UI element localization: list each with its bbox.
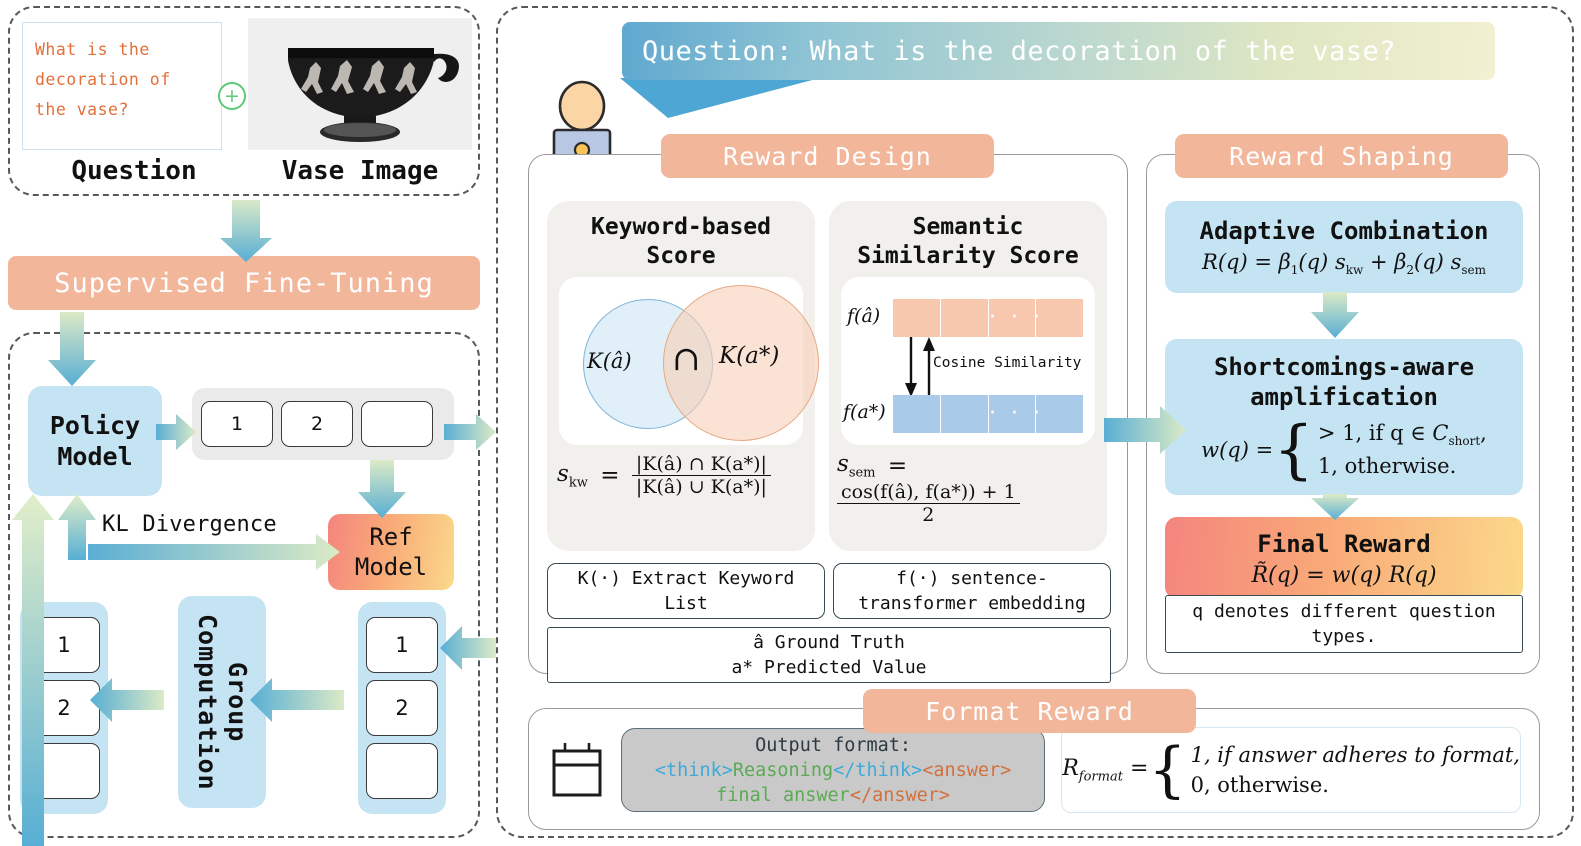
legend-answer-symbols: â Ground Truth a* Predicted Value [547, 627, 1111, 683]
adaptive-beta2-sub: 2 [1406, 264, 1414, 278]
speech-bubble-tail [620, 78, 820, 118]
group-computation-label: Group Computation [192, 596, 252, 808]
keyword-card-title: Keyword-based Score [547, 213, 815, 271]
vase-image-label: Vase Image [248, 156, 472, 186]
vase-illustration [248, 18, 472, 150]
answer-close-tag: </answer> [850, 785, 950, 806]
legend-q-line1: q denotes different question [1192, 599, 1495, 624]
vector-label-top: f(â) [847, 305, 880, 327]
vector-dots-bottom: · · · [989, 395, 1044, 433]
question-input[interactable]: What is the decoration of the vase? [22, 22, 222, 150]
shortcomings-title: Shortcomings-aware amplification [1214, 352, 1474, 412]
format-reward-header: Format Reward [863, 689, 1196, 733]
policy-model-line1: Policy [50, 410, 140, 441]
shortcomings-title-line2: amplification [1214, 382, 1474, 412]
policy-model-block: Policy Model [28, 386, 162, 496]
output-format-card: Output format: <think>Reasoning</think><… [621, 728, 1045, 812]
final-reward-eq-text: R̃(q) = w(q) R(q) [1251, 563, 1436, 588]
question-speech-bubble: Question: What is the decoration of the … [622, 22, 1495, 80]
adaptive-ssem-sub: sem [1461, 264, 1486, 278]
output-format-code-line1: <think>Reasoning</think><answer> [655, 758, 1011, 783]
format-reward-body: Output format: <think>Reasoning</think><… [549, 727, 1521, 813]
semantic-card-title: Semantic Similarity Score [829, 213, 1107, 271]
shortcomings-case2: 1, otherwise. [1318, 451, 1487, 481]
ssem-fraction: cos(f(â), f(a*)) + 1 2 [837, 481, 1020, 526]
reward-framework-panel: Question: What is the decoration of the … [496, 6, 1574, 838]
vector-segment [893, 395, 941, 433]
shortcomings-case1: > 1, if q ∈ Cshort, [1318, 418, 1487, 451]
vector-segment [941, 395, 989, 433]
ssem-denominator: 2 [837, 504, 1020, 526]
adaptive-combination-formula: R(q) = β1(q) skw + β2(q) ssem [1202, 250, 1486, 277]
vector-label-bottom: f(a*) [843, 401, 886, 423]
semantic-title-line1: Semantic [829, 213, 1107, 242]
supervised-fine-tuning-block: Supervised Fine-Tuning [8, 256, 480, 310]
legend-f-line1: f(·) sentence- [858, 566, 1086, 591]
final-reward-title: Final Reward [1257, 529, 1430, 559]
question-input-text: What is the decoration of the vase? [35, 40, 171, 119]
semantic-score-formula: ssem = cos(f(â), f(a*)) + 1 2 [837, 451, 1099, 526]
final-reward-formula: R̃(q) = w(q) R(q) [1251, 563, 1436, 588]
adaptive-skw-sub: kw [1346, 264, 1364, 278]
venn-label-left: K(â) [587, 349, 632, 373]
keyword-score-formula: skw = |K(â) ∩ K(a*)| |K(â) ∪ K(a*)| [557, 453, 805, 498]
embedding-vectors: f(â) · · · Cosine Similarity [841, 277, 1095, 445]
legend-a-line2: a* Predicted Value [731, 655, 926, 680]
rformat-case2: 0, otherwise. [1191, 770, 1520, 800]
stack-cell: 2 [28, 680, 100, 736]
adaptive-beta1: β [1279, 250, 1291, 274]
vector-segment [893, 299, 941, 337]
vase-image [248, 18, 472, 150]
brace-icon: { [1273, 425, 1314, 475]
question-label: Question [34, 156, 234, 186]
output-format-title: Output format: [755, 733, 911, 758]
rollout-cell: 1 [201, 401, 273, 447]
legend-q-line2: types. [1192, 624, 1495, 649]
rformat-case1: 1, if answer adheres to format, [1191, 740, 1520, 770]
adaptive-lhs: R(q) = [1202, 250, 1272, 274]
input-panel: What is the decoration of the vase? + [8, 6, 480, 196]
legend-k-line2: List [578, 591, 795, 616]
legend-embedding-fn: f(·) sentence- transformer embedding [833, 563, 1111, 619]
adaptive-combination-title: Adaptive Combination [1200, 216, 1489, 246]
venn-label-right: K(a*) [719, 343, 779, 369]
shortcomings-amplification-block: Shortcomings-aware amplification w(q) = … [1165, 339, 1523, 495]
kl-divergence-label: KL Divergence [102, 512, 277, 537]
keyword-title-line1: Keyword-based [547, 213, 815, 242]
policy-model-line2: Model [57, 441, 132, 472]
adaptive-combination-block: Adaptive Combination R(q) = β1(q) skw + … [1165, 201, 1523, 293]
stack-cell [28, 743, 100, 799]
skw-denominator: |K(â) ∪ K(a*)| [632, 476, 771, 498]
reward-stack-left: 1 2 [20, 602, 108, 814]
ssem-numerator: cos(f(â), f(a*)) + 1 [837, 481, 1020, 504]
think-close-tag: </think> [833, 760, 922, 781]
adaptive-ssem: s [1451, 250, 1462, 274]
skw-equals: = [593, 463, 627, 489]
ref-model-line2: Model [355, 552, 427, 582]
calendar-icon [549, 741, 605, 799]
legend-f-line2: transformer embedding [858, 591, 1086, 616]
group-computation-block: Group Computation [178, 596, 266, 808]
final-reward-block: Final Reward R̃(q) = w(q) R(q) [1165, 517, 1523, 599]
arrow-input-to-sft [220, 200, 272, 262]
reward-design-panel: Keyword-based Score K(â) ∩ K(a*) skw = |… [528, 154, 1128, 674]
venn-diagram: K(â) ∩ K(a*) [559, 277, 803, 445]
adaptive-skw: s [1335, 250, 1346, 274]
reward-design-header: Reward Design [661, 134, 994, 178]
skw-numerator: |K(â) ∩ K(a*)| [632, 453, 771, 476]
adaptive-beta1-arg: (q) [1298, 250, 1328, 274]
legend-question-types: q denotes different question types. [1165, 595, 1523, 653]
legend-k-line1: K(·) Extract Keyword [578, 566, 795, 591]
rformat-lhs: Rformat = [1062, 756, 1148, 784]
reward-stack-right: 1 2 [358, 602, 446, 814]
ref-model-line1: Ref [369, 522, 412, 552]
ssem-lhs: ssem [837, 451, 876, 481]
rollout-cell [361, 401, 433, 447]
skw-fraction: |K(â) ∩ K(a*)| |K(â) ∪ K(a*)| [632, 453, 771, 498]
shortcomings-formula: w(q) = { > 1, if q ∈ Cshort, 1, otherwis… [1201, 418, 1487, 481]
skw-lhs: skw [557, 461, 588, 491]
ref-model-block: Ref Model [328, 514, 454, 590]
legend-keyword-fn: K(·) Extract Keyword List [547, 563, 825, 619]
ssem-equals: = [881, 453, 915, 479]
figure-canvas: What is the decoration of the vase? + [0, 0, 1581, 846]
semantic-title-line2: Similarity Score [829, 242, 1107, 271]
vector-dots-top: · · · [989, 299, 1044, 337]
answer-open-tag: <answer> [922, 760, 1011, 781]
think-open-tag: <think> [655, 760, 733, 781]
stack-cell: 2 [366, 680, 438, 736]
vector-segment [941, 299, 989, 337]
cosine-similarity-label: Cosine Similarity [933, 355, 1081, 371]
shortcomings-lhs: w(q) = [1201, 438, 1273, 462]
legend-a-line1: â Ground Truth [731, 630, 926, 655]
intersection-symbol: ∩ [672, 339, 701, 379]
rl-training-panel: Policy Model 1 2 KL Divergence Ref Model… [8, 332, 480, 838]
vector-row-top [893, 299, 1083, 337]
vector-row-bottom [893, 395, 1083, 433]
plus-circle-icon: + [218, 82, 246, 110]
adaptive-plus: + [1370, 250, 1388, 274]
rollout-tray: 1 2 [192, 388, 454, 460]
keyword-score-card: Keyword-based Score K(â) ∩ K(a*) skw = |… [547, 201, 815, 551]
output-format-code-line2: final answer</answer> [716, 783, 950, 808]
rollout-cell: 2 [281, 401, 353, 447]
final-answer-text: final answer [716, 785, 850, 806]
adaptive-beta2-arg: (q) [1414, 250, 1444, 274]
brace-icon: { [1148, 747, 1186, 793]
adaptive-beta2: β [1394, 250, 1406, 274]
reasoning-text: Reasoning [733, 760, 833, 781]
semantic-score-card: Semantic Similarity Score f(â) · · · [829, 201, 1107, 551]
reward-shaping-header: Reward Shaping [1175, 134, 1508, 178]
shortcomings-title-line1: Shortcomings-aware [1214, 352, 1474, 382]
keyword-title-line2: Score [547, 242, 815, 271]
stack-cell [366, 743, 438, 799]
reward-shaping-panel: Adaptive Combination R(q) = β1(q) skw + … [1146, 154, 1540, 674]
format-reward-formula-card: Rformat = { 1, if answer adheres to form… [1061, 727, 1521, 813]
stack-cell: 1 [366, 617, 438, 673]
stack-cell: 1 [28, 617, 100, 673]
